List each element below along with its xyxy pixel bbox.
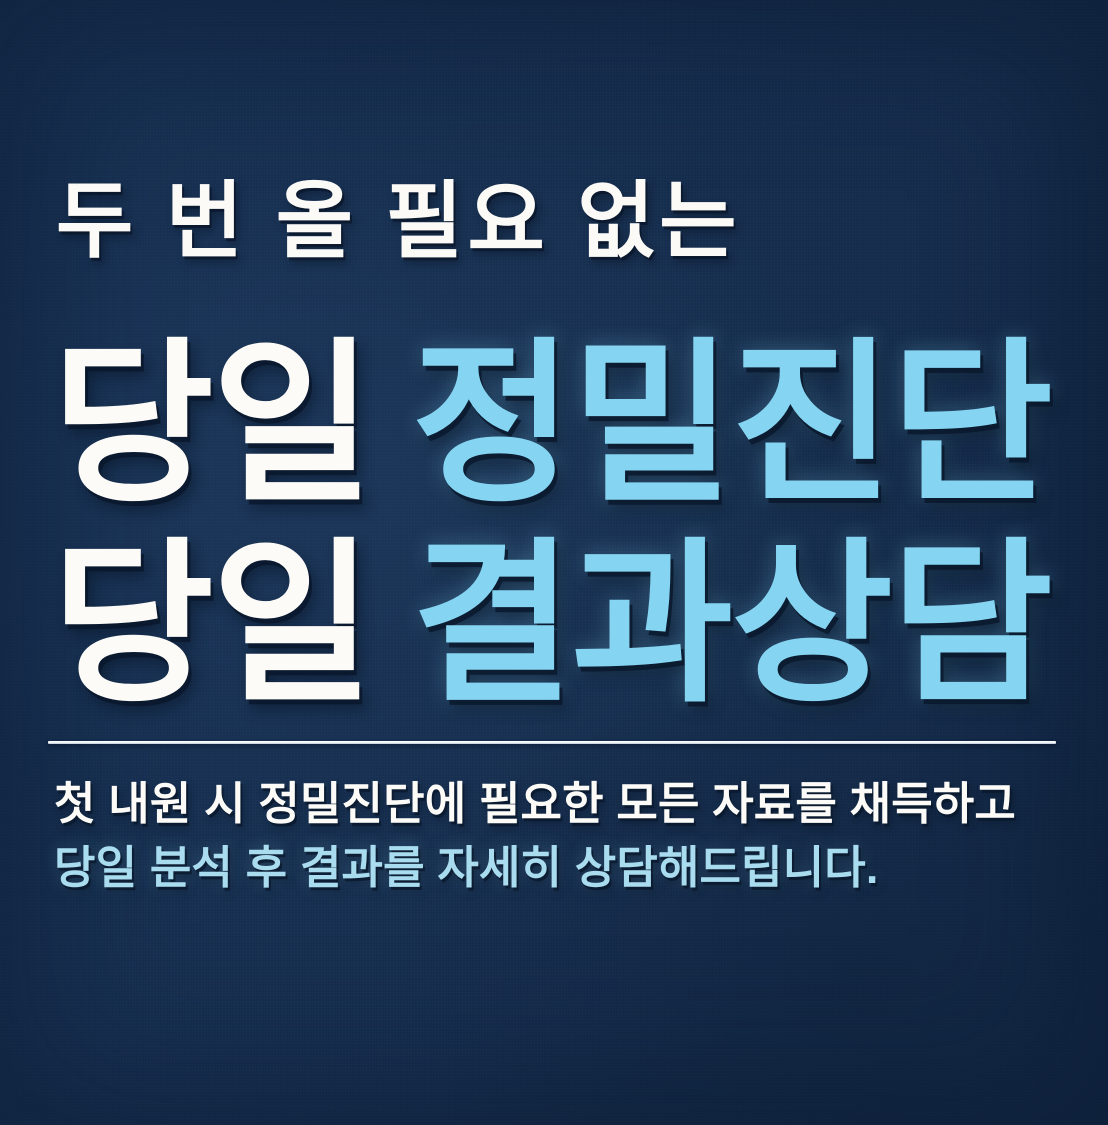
headline-line-1-white: 당일 <box>52 327 372 523</box>
promo-poster: 두 번 올 필요 없는 당일정밀진단 당일결과상담 첫 내원 시 정밀진단에 필… <box>0 0 1108 1125</box>
eyebrow-text: 두 번 올 필요 없는 <box>56 178 741 265</box>
body-copy-block: 첫 내원 시 정밀진단에 필요한 모든 자료를 채득하고 당일 분석 후 결과를… <box>54 772 1016 901</box>
headline-block: 당일정밀진단 당일결과상담 <box>52 330 1051 722</box>
headline-line-2-white: 당일 <box>52 527 372 723</box>
headline-line-1: 당일정밀진단 <box>52 330 1051 522</box>
headline-line-2-accent: 결과상담 <box>412 527 1051 723</box>
headline-line-2: 당일결과상담 <box>52 530 1051 722</box>
divider-rule <box>48 741 1056 744</box>
headline-line-1-accent: 정밀진단 <box>412 327 1051 523</box>
body-line-2: 당일 분석 후 결과를 자세히 상담해드립니다. <box>54 836 1016 900</box>
body-line-1: 첫 내원 시 정밀진단에 필요한 모든 자료를 채득하고 <box>54 772 1016 836</box>
